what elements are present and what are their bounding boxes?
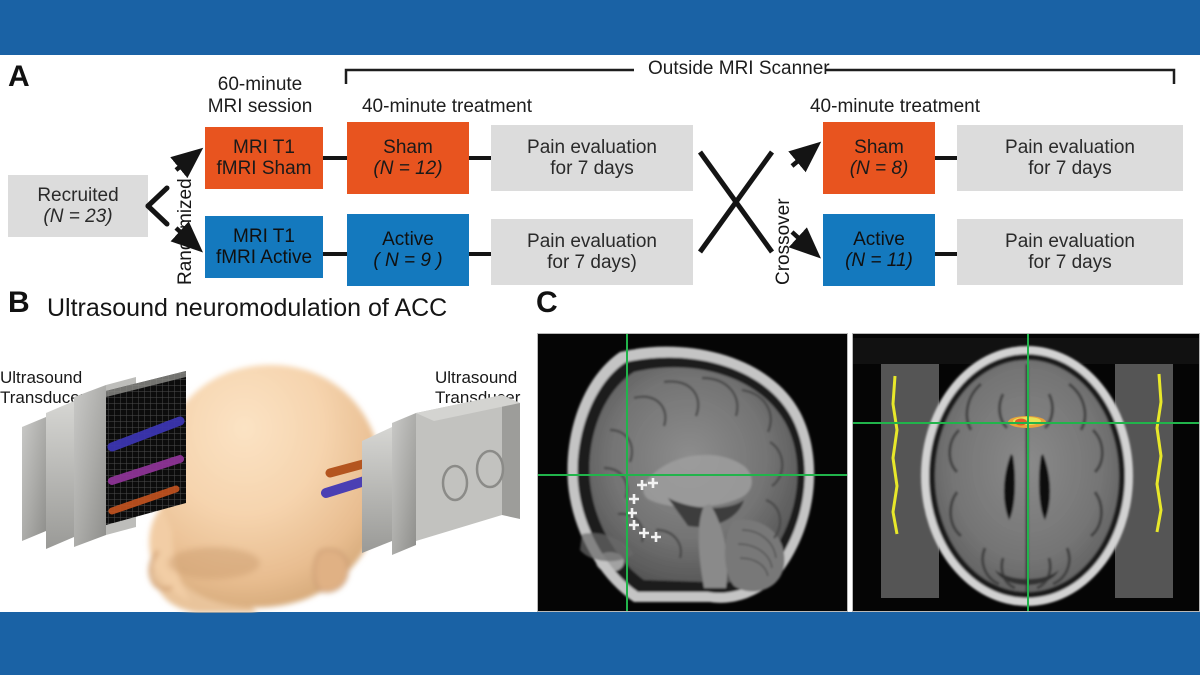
eval2-sham-line2: for 7 days: [1028, 158, 1111, 179]
heading-mri-session-line2: MRI session: [208, 96, 313, 117]
eval2-box-sham: Pain evaluation for 7 days: [957, 125, 1183, 191]
heading-treatment-1: 40-minute treatment: [332, 96, 562, 118]
randomization-fork: [148, 188, 167, 224]
scan-box-sham: MRI T1 fMRI Sham: [205, 127, 323, 189]
eval1-active-line2: for 7 days): [547, 252, 637, 273]
axial-crosshair-horizontal: [853, 422, 1199, 424]
eval2-active-line1: Pain evaluation: [1005, 231, 1135, 252]
connector-sham-scan-to-treat1: [323, 156, 347, 160]
eval1-active-line1: Pain evaluation: [527, 231, 657, 252]
scan-box-active-line2: fMRI Active: [216, 247, 312, 268]
heading-mri-session: 60-minute MRI session: [190, 74, 330, 118]
panel-c-letter: C: [536, 288, 558, 318]
heading-mri-session-line1: 60-minute: [218, 74, 303, 95]
eval1-box-active: Pain evaluation for 7 days): [491, 219, 693, 285]
figure-root: A Outside MRI Scanner 60-minute MRI sess…: [0, 0, 1200, 675]
treatment1-sham-label: Sham: [383, 137, 433, 158]
treatment2-sham-label: Sham: [854, 137, 904, 158]
treatment1-box-active: Active ( N = 9 ): [347, 214, 469, 286]
scan-box-active-line1: MRI T1: [233, 226, 295, 247]
treatment1-box-sham: Sham (N = 12): [347, 122, 469, 194]
panel-a-letter: A: [8, 62, 30, 92]
connector-sham-treat2-to-eval2: [935, 156, 957, 160]
panel-b-letter: B: [8, 288, 30, 318]
head-illustration-svg: [0, 355, 530, 613]
treatment1-active-count: ( N = 9 ): [373, 250, 442, 271]
eval2-sham-line1: Pain evaluation: [1005, 137, 1135, 158]
axial-crosshair-vertical: [1027, 334, 1029, 611]
eval2-active-line2: for 7 days: [1028, 252, 1111, 273]
connector-sham-treat1-to-eval1: [469, 156, 491, 160]
treatment1-sham-count: (N = 12): [373, 158, 442, 179]
mri-sagittal-view: [537, 333, 848, 612]
recruited-label: Recruited: [37, 185, 118, 206]
connector-active-treat1-to-eval1: [469, 252, 491, 256]
sagittal-crosshair-horizontal: [538, 474, 847, 476]
crossover-arrows: [792, 146, 816, 254]
eval1-box-sham: Pain evaluation for 7 days: [491, 125, 693, 191]
heading-treatment-2: 40-minute treatment: [780, 96, 1010, 118]
randomized-label: Randomized: [175, 178, 197, 285]
connector-active-treat2-to-eval2: [935, 252, 957, 256]
crossover-label: Crossover: [773, 198, 795, 285]
recruited-box: Recruited (N = 23): [8, 175, 148, 237]
treatment2-box-active: Active (N = 11): [823, 214, 935, 286]
scan-box-sham-line1: MRI T1: [233, 137, 295, 158]
treatment2-active-label: Active: [853, 229, 905, 250]
panel-b-title: Ultrasound neuromodulation of ACC: [47, 294, 447, 323]
crossover-x: [700, 152, 772, 252]
head-illustration: [0, 355, 530, 613]
eval2-box-active: Pain evaluation for 7 days: [957, 219, 1183, 285]
eval1-sham-line1: Pain evaluation: [527, 137, 657, 158]
eval1-sham-line2: for 7 days: [550, 158, 633, 179]
connector-active-scan-to-treat1: [323, 252, 347, 256]
mri-sagittal-svg: [538, 334, 848, 612]
mri-axial-view: [852, 333, 1200, 612]
letterbox-bottom-bar: [0, 612, 1200, 675]
recruited-count: (N = 23): [43, 206, 112, 227]
scan-box-sham-line2: fMRI Sham: [216, 158, 311, 179]
treatment2-active-count: (N = 11): [845, 250, 913, 271]
outside-mri-bracket-label: Outside MRI Scanner: [640, 58, 838, 80]
treatment1-active-label: Active: [382, 229, 434, 250]
sagittal-crosshair-vertical: [626, 334, 628, 611]
treatment2-box-sham: Sham (N = 8): [823, 122, 935, 194]
treatment2-sham-count: (N = 8): [850, 158, 909, 179]
scan-box-active: MRI T1 fMRI Active: [205, 216, 323, 278]
letterbox-top-bar: [0, 0, 1200, 55]
